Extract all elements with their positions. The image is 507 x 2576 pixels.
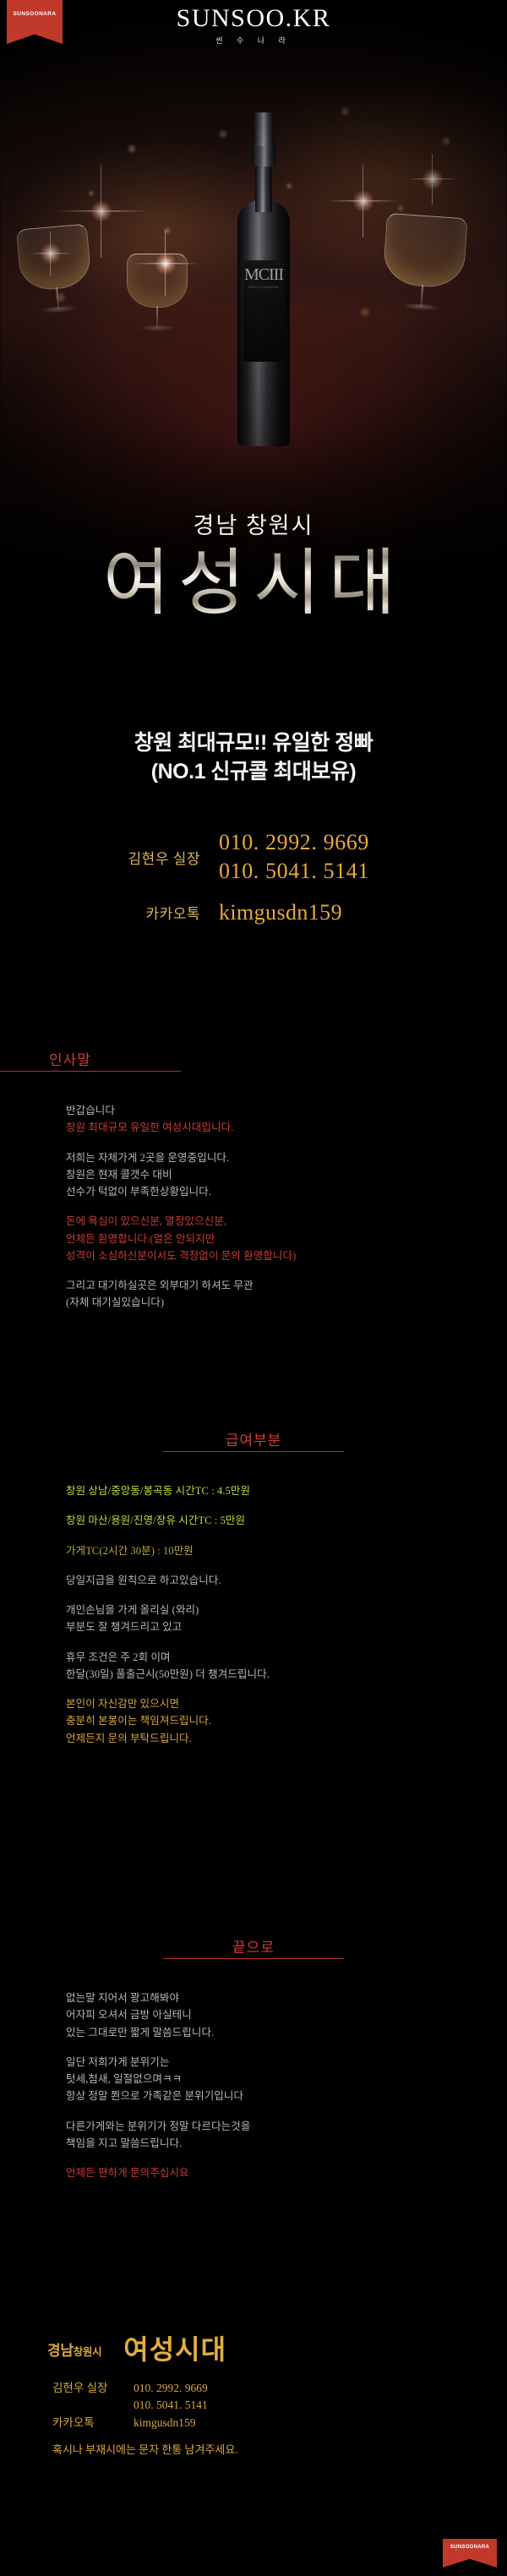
headline-line-2: (NO.1 신규콜 최대보유) [0, 757, 507, 786]
paragraph-line: 저희는 자체가게 2곳을 운영중입니다. [66, 1149, 507, 1166]
section-header: 인사말 [0, 1048, 507, 1077]
logo-main-text: SUNSOO.KR [0, 5, 507, 32]
section-pay: 급여부분 창원 상남/중앙동/봉곡동 시간TC : 4.5만원창원 마산/용원/… [0, 1428, 507, 1760]
footer-kakao-label: 카카오톡 [52, 2415, 134, 2431]
section-title: 끝으로 [232, 1935, 275, 1957]
paragraph-line: 창원은 현재 콜갯수 대비 [66, 1166, 507, 1183]
paragraph-line: 그리고 대기하실곳은 외부대기 하셔도 무관 [66, 1277, 507, 1294]
headline-line-1: 창원 최대규모!! 유일한 정빠 [0, 729, 507, 757]
footer-phone-1[interactable]: 010. 2992. 9669 [134, 2380, 208, 2397]
page-footer: 경남창원시 여성시대 김현우 실장 010. 2992. 9669 010. 5… [0, 2336, 507, 2576]
paragraph-line: 텃세,첨새, 일절없으며ㅋㅋ [66, 2071, 507, 2088]
advertisement-page: MCIII MOET & CHANDON SUNSOONARA SUNSOO.K… [0, 0, 507, 2576]
hero-contact-block: 김현우 실장 010. 2992. 9669 010. 5041. 5141 카… [0, 828, 507, 925]
hero-title-block: 경남 창원시 여성시대 [0, 507, 507, 622]
paragraph: 일단 저희가게 분위기는텃세,첨새, 일절없으며ㅋㅋ항상 정말 쬔으로 가족같은… [66, 2054, 507, 2105]
paragraph-line: 돈에 욕심이 있으신분, 열정있으신분, [66, 1213, 507, 1230]
section-body: 창원 상남/중앙동/봉곡동 시간TC : 4.5만원창원 마산/용원/진영/장유… [0, 1482, 507, 1747]
footer-manager-label: 김현우 실장 [52, 2380, 134, 2397]
paragraph: 가게TC(2시간 30분) : 10만원 [66, 1542, 507, 1559]
paragraph-line: 언제든지 문의 부탁드립니다. [66, 1730, 507, 1747]
footer-phone-2[interactable]: 010. 5041. 5141 [134, 2397, 208, 2414]
hero-city-line: 경남 창원시 [0, 507, 507, 540]
paragraph-line: 어자피 오셔서 금방 아실테니 [66, 2006, 507, 2023]
paragraph-line: 창원 상남/중앙동/봉곡동 시간TC : 4.5만원 [66, 1482, 507, 1499]
paragraph-line: 창원 최대규모 유일한 여성시대입니다. [66, 1119, 507, 1136]
paragraph: 휴무 조건은 주 2회 이며한달(30일) 풀출근시(50만원) 더 챙겨드립니… [66, 1649, 507, 1684]
paragraph-line: 없는말 지어서 꽝고해봐야 [66, 1989, 507, 2006]
manager-phone-row: 김현우 실장 010. 2992. 9669 010. 5041. 5141 [0, 828, 507, 887]
paragraph-line: 본인이 자신감만 있으시면 [66, 1695, 507, 1712]
paragraph-line: (자체 대기실있습니다) [66, 1294, 507, 1311]
kakao-id[interactable]: kimgusdn159 [219, 900, 430, 925]
section-header: 급여부분 [0, 1428, 507, 1457]
paragraph: 당일지급을 원칙으로 하고있습니다. [66, 1572, 507, 1589]
hero-headline: 창원 최대규모!! 유일한 정빠 (NO.1 신규콜 최대보유) [0, 729, 507, 786]
paragraph-line: 있는 그대로만 짧게 말씀드립니다. [66, 2024, 507, 2041]
paragraph-line: 휴무 조건은 주 2회 이며 [66, 1649, 507, 1666]
manager-label: 김현우 실장 [77, 847, 219, 868]
paragraph: 반갑습니다창원 최대규모 유일한 여성시대입니다. [66, 1102, 507, 1137]
paragraph-line: 언제든 환영합니다.(얼은 안되지만 [66, 1231, 507, 1247]
paragraph-line: 책임을 지고 말씀드립니다. [66, 2135, 507, 2152]
paragraph-line: 일단 저희가게 분위기는 [66, 2054, 507, 2071]
section-body: 반갑습니다창원 최대규모 유일한 여성시대입니다.저희는 자체가게 2곳을 운영… [0, 1102, 507, 1312]
paragraph: 돈에 욕심이 있으신분, 열정있으신분,언제든 환영합니다.(얼은 안되지만성격… [66, 1213, 507, 1264]
paragraph: 그리고 대기하실곳은 외부대기 하셔도 무관(자체 대기실있습니다) [66, 1277, 507, 1312]
paragraph-line: 한달(30일) 풀출근시(50만원) 더 챙겨드립니다. [66, 1666, 507, 1683]
footer-city-small: 창원시 [74, 2346, 102, 2358]
hero-banner: MCIII MOET & CHANDON [0, 0, 507, 744]
section-divider [163, 1451, 344, 1452]
paragraph-line: 당일지급을 원칙으로 하고있습니다. [66, 1572, 507, 1589]
paragraph: 없는말 지어서 꽝고해봐야어자피 오셔서 금방 아실테니있는 그대로만 짧게 말… [66, 1989, 507, 2041]
footer-kakao-row: 카카오톡 kimgusdn159 [52, 2415, 507, 2431]
footer-brand-name: 여성시대 [123, 2336, 226, 2363]
paragraph-line: 다른가게와는 분위기가 정말 다르다는것을 [66, 2118, 507, 2135]
paragraph-line: 언제든 편하게 문의주십시요 [66, 2164, 507, 2181]
phone-number-1[interactable]: 010. 2992. 9669 [219, 828, 430, 857]
paragraph: 본인이 자신감만 있으시면충분히 본봉이는 책임져드립니다.언제든지 문의 부탁… [66, 1695, 507, 1747]
footer-contact-block: 김현우 실장 010. 2992. 9669 010. 5041. 5141 카… [0, 2380, 507, 2457]
paragraph: 창원 마산/용원/진영/장유 시간TC : 5만원 [66, 1512, 507, 1529]
footer-badge-label: SUNSOONARA [450, 2545, 489, 2550]
footer-kakao-id[interactable]: kimgusdn159 [134, 2415, 196, 2431]
hero-vignette-overlay [0, 0, 507, 744]
footer-sunsoonara-badge[interactable]: SUNSOONARA [443, 2539, 497, 2568]
page-title: 여성시대 [0, 545, 507, 622]
kakao-label: 카카오톡 [77, 902, 219, 923]
footer-city-big: 경남 [47, 2343, 74, 2359]
logo-sub-text: 썬 수 나 라 [0, 35, 507, 46]
paragraph-line: 항상 정말 쬔으로 가족같은 분위기입니다 [66, 2088, 507, 2104]
paragraph: 창원 상남/중앙동/봉곡동 시간TC : 4.5만원 [66, 1482, 507, 1499]
paragraph: 언제든 편하게 문의주십시요 [66, 2164, 507, 2181]
section-title: 급여부분 [226, 1428, 282, 1449]
kakao-row: 카카오톡 kimgusdn159 [0, 900, 507, 925]
paragraph: 저희는 자체가게 2곳을 운영중입니다.창원은 현재 콜갯수 대비선수가 턱없이… [66, 1149, 507, 1201]
footer-logo-lockup: 경남창원시 여성시대 [0, 2336, 507, 2363]
footer-manager-row: 김현우 실장 010. 2992. 9669 010. 5041. 5141 [52, 2380, 507, 2415]
section-header: 끝으로 [0, 1935, 507, 1964]
section-greeting: 인사말 반갑습니다창원 최대규모 유일한 여성시대입니다.저희는 자체가게 2곳… [0, 1048, 507, 1324]
paragraph-line: 충분히 본봉이는 책임져드립니다. [66, 1712, 507, 1729]
section-divider [0, 1071, 181, 1072]
section-divider [163, 1958, 344, 1959]
phone-number-2[interactable]: 010. 5041. 5141 [219, 857, 430, 886]
paragraph: 다른가게와는 분위기가 정말 다르다는것을책임을 지고 말씀드립니다. [66, 2118, 507, 2153]
paragraph-line: 부분도 잘 챙겨드리고 있고 [66, 1618, 507, 1635]
footer-city: 경남창원시 [47, 2339, 101, 2363]
paragraph-line: 가게TC(2시간 30분) : 10만원 [66, 1542, 507, 1559]
paragraph-line: 개인손님을 가게 올리실 (와리) [66, 1602, 507, 1618]
section-closing: 끝으로 없는말 지어서 꽝고해봐야어자피 오셔서 금방 아실테니있는 그대로만 … [0, 1935, 507, 2194]
section-body: 없는말 지어서 꽝고해봐야어자피 오셔서 금방 아실테니있는 그대로만 짧게 말… [0, 1989, 507, 2181]
paragraph-line: 창원 마산/용원/진영/장유 시간TC : 5만원 [66, 1512, 507, 1529]
section-title: 인사말 [49, 1048, 91, 1069]
paragraph-line: 선수가 턱없이 부족한상황입니다. [66, 1183, 507, 1200]
paragraph-line: 성격이 소심하신분이서도 격정없이 문의 환영합니다) [66, 1247, 507, 1264]
paragraph-line: 반갑습니다 [66, 1102, 507, 1119]
footer-note: 혹시나 부재시에는 문자 한통 남겨주세요. [52, 2441, 507, 2457]
paragraph: 개인손님을 가게 올리실 (와리)부분도 잘 챙겨드리고 있고 [66, 1602, 507, 1636]
site-logo[interactable]: SUNSOO.KR 썬 수 나 라 [0, 5, 507, 46]
